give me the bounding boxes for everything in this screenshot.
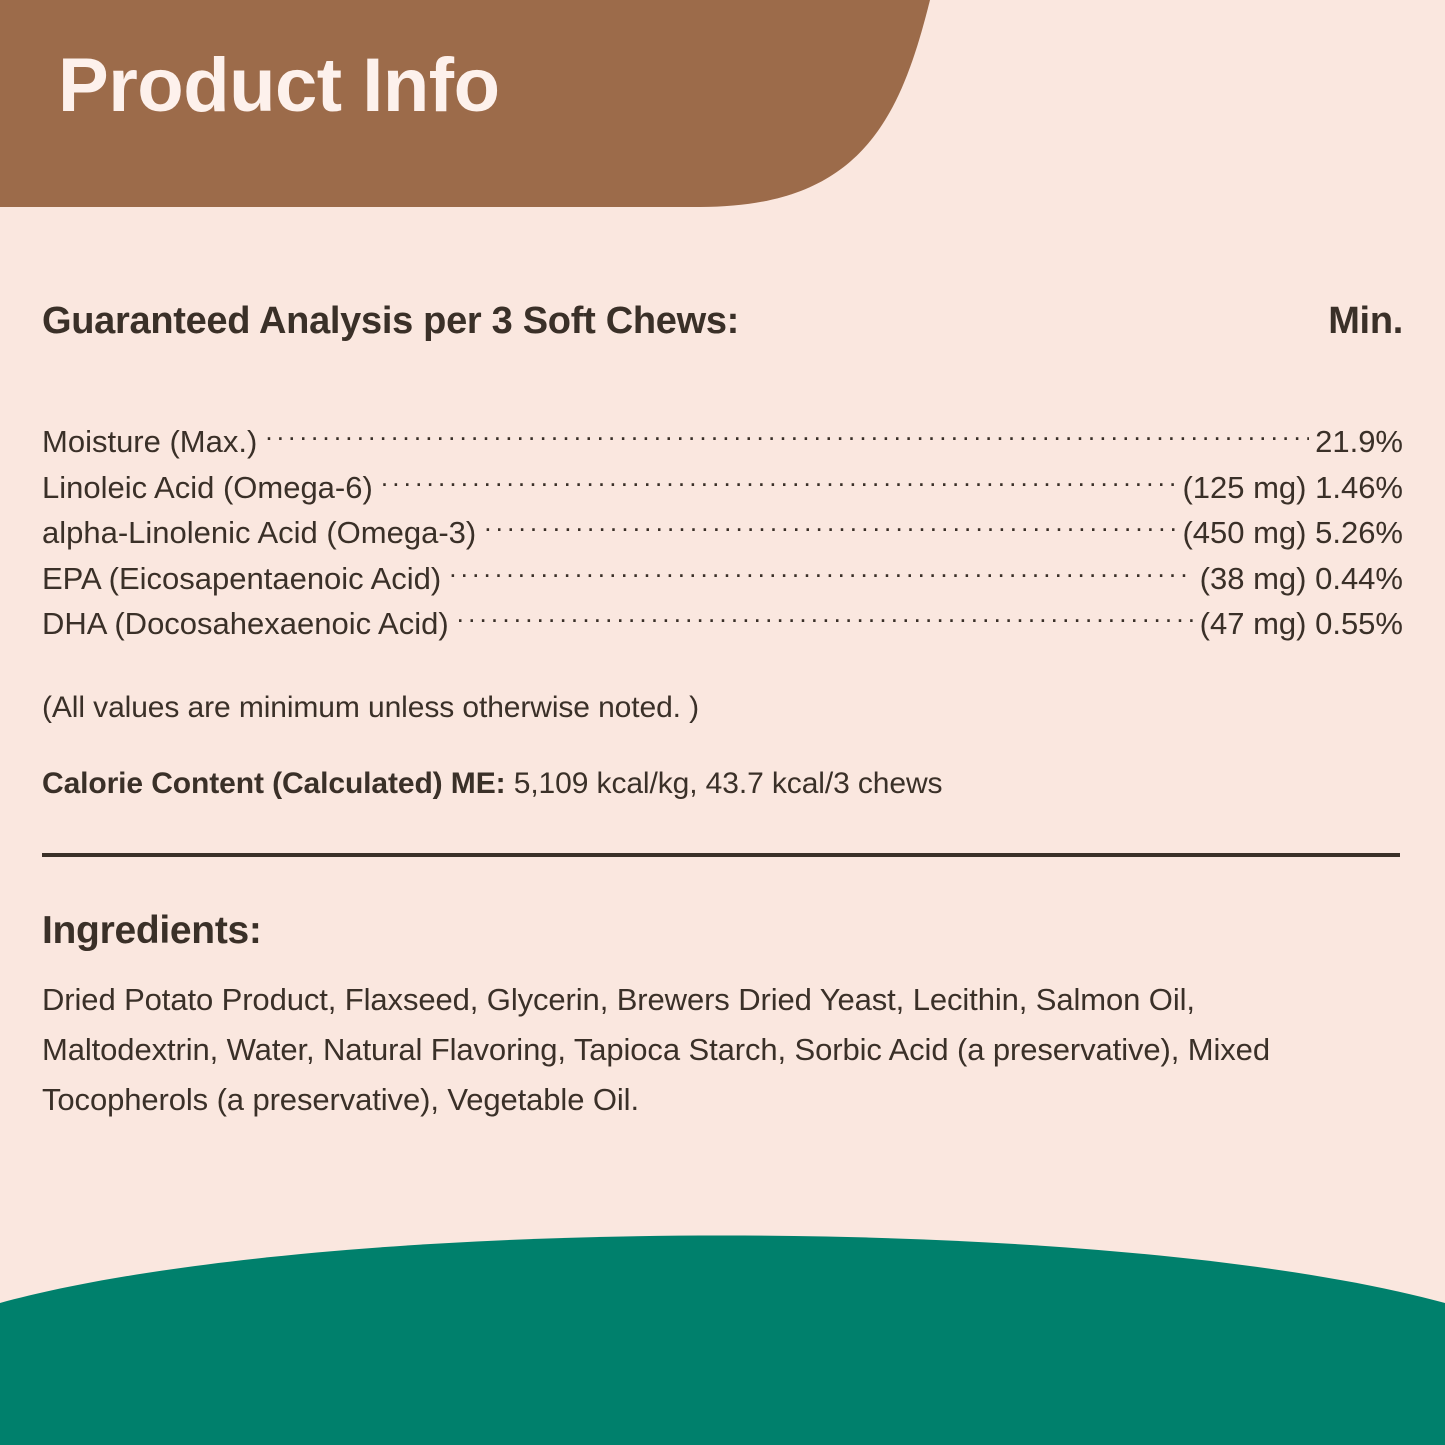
nutrient-name: DHA (Docosahexaenoic Acid) [42,601,449,647]
dot-leader [457,603,1194,634]
footer-arc [0,1235,1445,1445]
table-row: Moisture (Max.) 21.9% [42,419,1403,465]
dot-leader [449,558,1193,589]
table-row: EPA (Eicosapentaenoic Acid) (38 mg) 0.44… [42,556,1403,602]
nutrient-name: alpha-Linolenic Acid (Omega-3) [42,510,476,556]
nutrient-value: (450 mg) 5.26% [1182,510,1403,556]
section-divider [42,853,1400,857]
nutrient-name: EPA (Eicosapentaenoic Acid) [42,556,441,602]
ingredients-text: Dried Potato Product, Flaxseed, Glycerin… [42,975,1352,1126]
calorie-content-line: Calorie Content (Calculated) ME: 5,109 k… [42,767,1403,801]
table-row: Linoleic Acid (Omega-6) (125 mg) 1.46% [42,465,1403,511]
nutrient-value: (125 mg) 1.46% [1182,465,1403,511]
dot-leader [381,467,1177,498]
guaranteed-analysis-title: Guaranteed Analysis per 3 Soft Chews: [42,300,739,343]
nutrient-value: 21.9% [1315,419,1403,465]
page-title: Product Info [58,48,500,124]
ingredients-heading: Ingredients: [42,909,1403,953]
guaranteed-analysis-note: (All values are minimum unless otherwise… [42,691,1403,725]
dot-leader [265,421,1309,452]
table-row: alpha-Linolenic Acid (Omega-3) (450 mg) … [42,510,1403,556]
footer-arc-shape [0,1235,1445,1445]
calorie-content-label: Calorie Content (Calculated) ME: [42,767,506,800]
nutrient-name: Linoleic Acid (Omega-6) [42,465,373,511]
nutrient-name: Moisture (Max.) [42,419,257,465]
guaranteed-analysis-min-column-header: Min. [1328,300,1403,343]
guaranteed-analysis-table: Moisture (Max.) 21.9% Linoleic Acid (Ome… [42,419,1403,647]
nutrient-value: (47 mg) 0.55% [1200,601,1403,647]
guaranteed-analysis-header: Guaranteed Analysis per 3 Soft Chews: Mi… [42,300,1403,343]
label-content: Guaranteed Analysis per 3 Soft Chews: Mi… [42,240,1403,1125]
calorie-content-value: 5,109 kcal/kg, 43.7 kcal/3 chews [506,767,943,800]
dot-leader [484,512,1176,543]
product-info-label: Product Info Guaranteed Analysis per 3 S… [0,0,1445,1445]
table-row: DHA (Docosahexaenoic Acid) (47 mg) 0.55% [42,601,1403,647]
nutrient-value: (38 mg) 0.44% [1200,556,1403,602]
